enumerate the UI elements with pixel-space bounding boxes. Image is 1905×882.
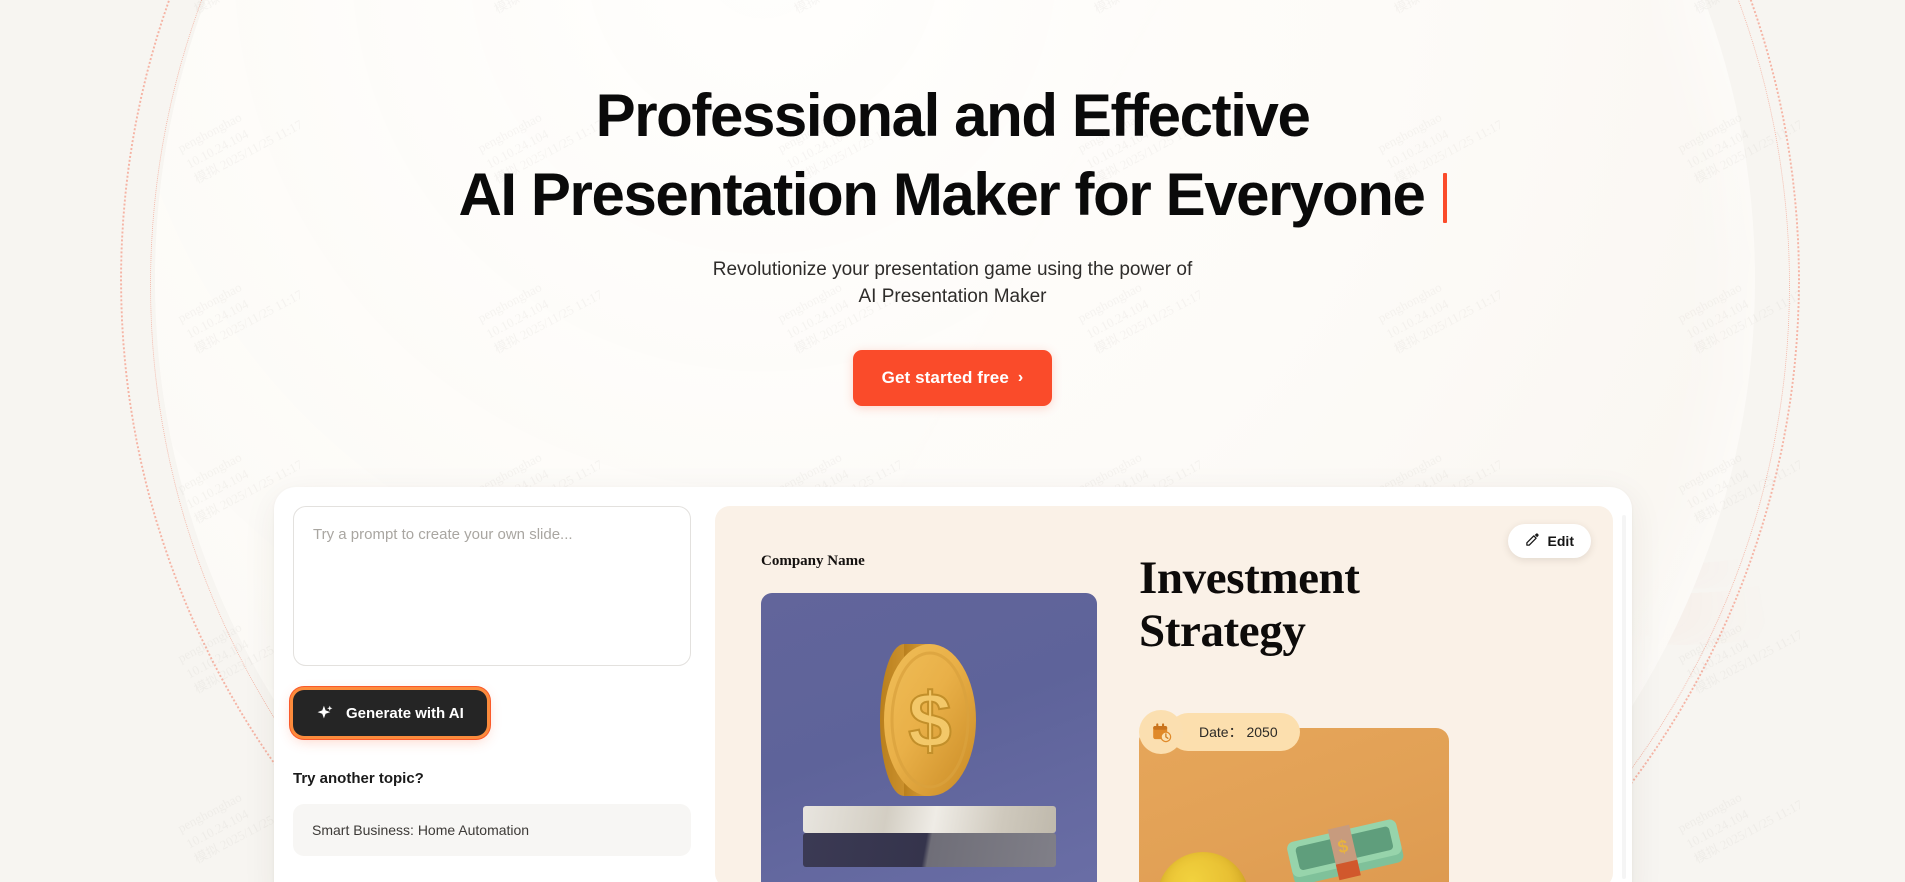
coin-illustration-panel: $ bbox=[761, 593, 1097, 882]
watermark-text: penghonghao10.10.24.104模拟 2025/11/25 11:… bbox=[0, 425, 6, 528]
hero-subtitle: Revolutionize your presentation game usi… bbox=[0, 256, 1905, 310]
try-another-topic-label: Try another topic? bbox=[293, 770, 691, 787]
panel-scrollbar[interactable] bbox=[1622, 515, 1626, 879]
cta-container: Get started free › bbox=[0, 350, 1905, 406]
money-stack-icon: $ bbox=[1282, 809, 1410, 882]
prompt-column: Generate with AI Try another topic? Smar… bbox=[293, 506, 691, 882]
page-title: Professional and Effective AI Presentati… bbox=[0, 76, 1905, 234]
small-gold-coin-icon bbox=[1157, 852, 1249, 882]
watermark-text: penghonghao10.10.24.104模拟 2025/11/25 11:… bbox=[1675, 765, 1806, 868]
ai-studio-panel: Generate with AI Try another topic? Smar… bbox=[274, 487, 1632, 882]
hero-section: Professional and Effective AI Presentati… bbox=[0, 0, 1905, 406]
dark-bar-illustration bbox=[803, 833, 1056, 867]
slide-date-badge: Date： 2050 bbox=[1139, 710, 1300, 754]
silver-bar-illustration bbox=[803, 806, 1056, 833]
chevron-right-icon: › bbox=[1018, 369, 1023, 387]
hero-subtitle-line-2: AI Presentation Maker bbox=[859, 286, 1047, 307]
sparkle-icon bbox=[316, 704, 335, 723]
date-pill: Date： 2050 bbox=[1169, 713, 1300, 751]
watermark-text: penghonghao10.10.24.104模拟 2025/11/25 11:… bbox=[0, 765, 6, 868]
generate-with-ai-button[interactable]: Generate with AI bbox=[293, 690, 487, 736]
text-caret-icon bbox=[1443, 173, 1447, 223]
slide-title: Investment Strategy bbox=[1139, 552, 1469, 658]
date-label: Date： 2050 bbox=[1199, 722, 1278, 742]
watermark-text: penghonghao10.10.24.104模拟 2025/11/25 11:… bbox=[0, 595, 6, 698]
prompt-input[interactable] bbox=[293, 506, 691, 666]
edit-button-label: Edit bbox=[1548, 533, 1574, 549]
slide-company-name: Company Name bbox=[761, 553, 865, 570]
topic-suggestion-chip[interactable]: Smart Business: Home Automation bbox=[293, 804, 691, 856]
svg-text:$: $ bbox=[908, 676, 951, 764]
cta-label: Get started free bbox=[882, 368, 1009, 388]
headline-line-1: Professional and Effective bbox=[596, 82, 1310, 149]
pencil-icon bbox=[1525, 532, 1540, 550]
slide-preview[interactable]: Edit Company Name bbox=[715, 506, 1613, 882]
hero-subtitle-line-1: Revolutionize your presentation game usi… bbox=[713, 259, 1193, 280]
topic-suggestion-label: Smart Business: Home Automation bbox=[312, 822, 529, 838]
calendar-clock-icon bbox=[1139, 710, 1183, 754]
edit-slide-button[interactable]: Edit bbox=[1508, 524, 1591, 558]
headline-line-2: AI Presentation Maker for Everyone bbox=[458, 155, 1424, 234]
get-started-free-button[interactable]: Get started free › bbox=[853, 350, 1053, 406]
generate-button-label: Generate with AI bbox=[346, 705, 464, 722]
gold-dollar-coin-icon: $ bbox=[868, 640, 990, 800]
